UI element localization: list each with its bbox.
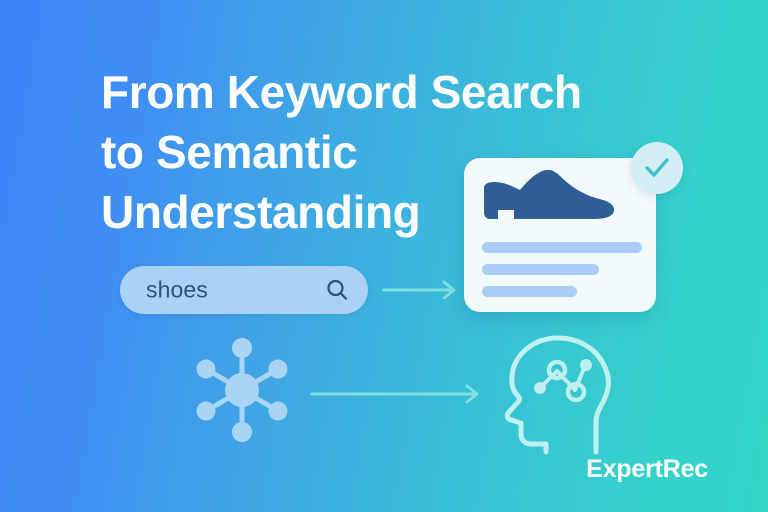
placeholder-line-subtitle <box>482 264 599 275</box>
search-input[interactable]: shoes <box>120 266 368 314</box>
head-ai-icon <box>500 330 620 456</box>
search-icon[interactable] <box>326 279 348 301</box>
status-badge <box>631 142 683 194</box>
search-result-card[interactable] <box>464 158 656 312</box>
knowledge-graph-icon <box>186 334 298 446</box>
brand-logo: ExpertRec <box>586 455 708 484</box>
placeholder-line-title <box>482 242 642 253</box>
check-icon <box>644 155 670 181</box>
promo-banner: From Keyword Search to Semantic Understa… <box>0 0 768 512</box>
arrow-keyword-to-result-icon <box>382 278 462 302</box>
search-input-value: shoes <box>146 277 208 304</box>
placeholder-line-meta <box>482 286 577 297</box>
arrow-graph-to-brain-icon <box>310 382 485 406</box>
result-placeholder-lines <box>482 242 642 308</box>
product-shoe-icon <box>478 166 618 232</box>
